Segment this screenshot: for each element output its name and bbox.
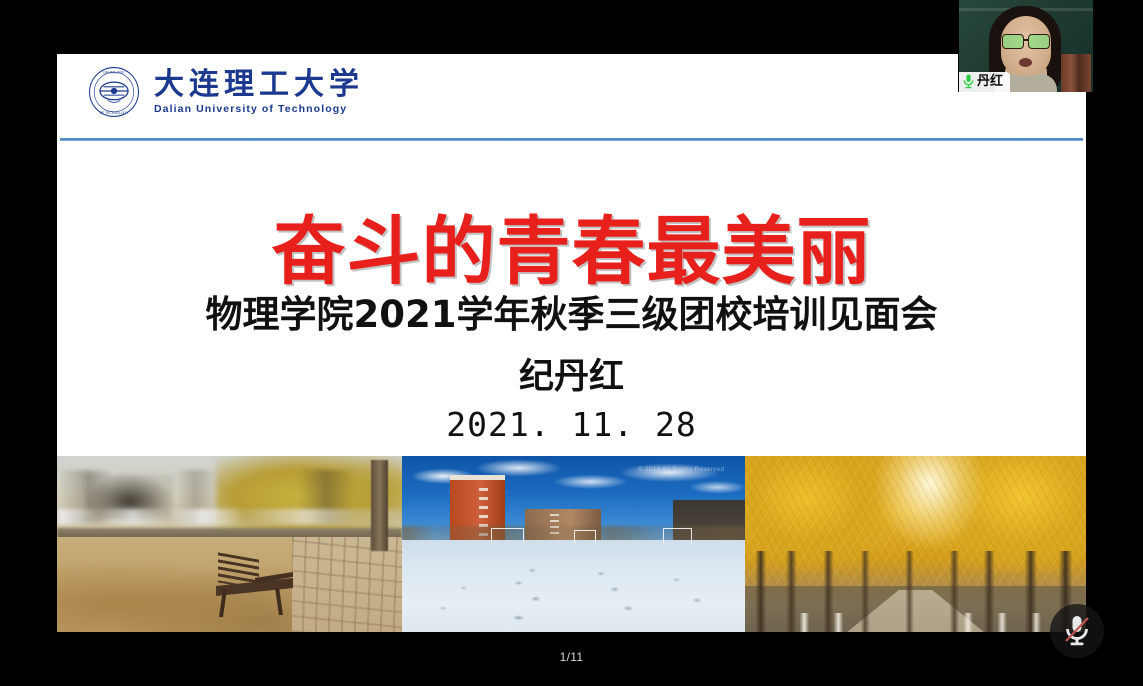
- title-block: 奋斗的青春最美丽 物理学院2021学年秋季三级团校培训见面会 纪丹红 2021.…: [57, 214, 1086, 443]
- header-divider: [60, 138, 1083, 141]
- snow-photo-watermark: © 2013 All Rights Reserved: [638, 467, 724, 473]
- slide-header: DALIAN UNIV. OF TECHNOLOGY 大连理工大学 Dalian…: [57, 54, 1086, 139]
- autumn-park-bench: [212, 556, 302, 619]
- university-name-cn: 大连理工大学: [154, 69, 364, 101]
- slide-presenter-name: 纪丹红: [57, 358, 1086, 397]
- video-background-books: [1061, 54, 1091, 92]
- participant-video-tile[interactable]: 丹红: [958, 0, 1093, 92]
- autumn-tree-trunk: [371, 460, 388, 552]
- dut-crest-icon: DALIAN UNIV. OF TECHNOLOGY: [88, 66, 140, 118]
- university-wordmark: 大连理工大学 Dalian University of Technology: [154, 69, 364, 115]
- autumn-brick-pavement: [292, 537, 402, 632]
- slide-main-title: 奋斗的青春最美丽: [57, 214, 1086, 292]
- screen-share-viewer: DALIAN UNIV. OF TECHNOLOGY 大连理工大学 Dalian…: [0, 0, 1143, 686]
- photo-autumn-bench: [57, 456, 402, 632]
- photo-ginkgo-road: [745, 456, 1086, 632]
- participant-name: 丹红: [977, 75, 1003, 88]
- participant-mouth: [1019, 58, 1032, 67]
- ginkgo-bollards: [745, 613, 1086, 632]
- svg-text:OF TECHNOLOGY: OF TECHNOLOGY: [100, 111, 129, 115]
- glasses-lens-right: [1028, 34, 1050, 49]
- slide-subtitle: 物理学院2021学年秋季三级团校培训见面会: [57, 294, 1086, 337]
- bench-leg-right: [275, 588, 283, 615]
- participant-glasses: [1001, 34, 1051, 48]
- university-name-en: Dalian University of Technology: [154, 103, 364, 115]
- microphone-icon: [962, 74, 975, 89]
- photo-snow-field: © 2013 All Rights Reserved: [402, 456, 745, 632]
- page-indicator: 1/11: [0, 650, 1143, 664]
- snow-goal-post-3: [663, 528, 692, 543]
- photo-strip: © 2013 All Rights Reserved: [57, 456, 1086, 632]
- svg-text:DALIAN UNIV.: DALIAN UNIV.: [103, 70, 125, 74]
- snow-goal-post-2: [574, 530, 597, 543]
- university-brand: DALIAN UNIV. OF TECHNOLOGY 大连理工大学 Dalian…: [88, 66, 364, 118]
- glasses-lens-left: [1002, 34, 1024, 49]
- presentation-slide[interactable]: DALIAN UNIV. OF TECHNOLOGY 大连理工大学 Dalian…: [57, 54, 1086, 632]
- microphone-muted-icon: [1062, 614, 1092, 648]
- autumn-parked-cars: [57, 509, 402, 525]
- participant-name-badge: 丹红: [959, 72, 1010, 92]
- snow-goal-post-1: [491, 528, 524, 543]
- slide-date: 2021. 11. 28: [57, 407, 1086, 443]
- snow-footprints: [402, 553, 745, 632]
